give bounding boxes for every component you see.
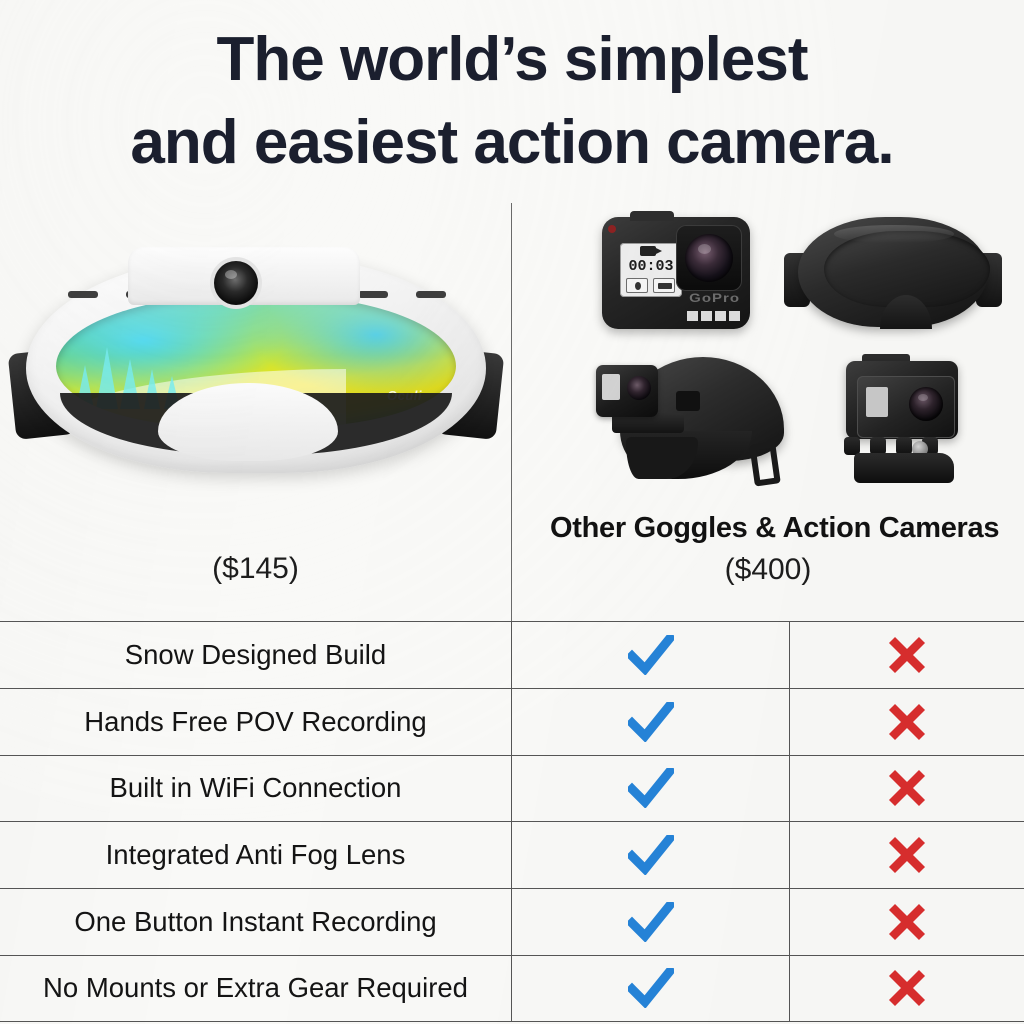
cross-icon — [887, 835, 927, 875]
comparison-page: The world’s simplest and easiest action … — [0, 0, 1024, 1024]
other-products-mark — [789, 956, 1024, 1021]
camera-lens-icon — [685, 234, 733, 282]
caged-action-camera-with-mount-icon — [842, 353, 968, 495]
other-products-mark — [789, 689, 1024, 755]
feature-label: No Mounts or Extra Gear Required — [0, 972, 511, 1004]
camera-top-nub — [630, 211, 674, 221]
camera-body — [857, 376, 955, 438]
our-product-mark — [511, 822, 789, 888]
cross-icon — [887, 635, 927, 675]
goggle-frame — [798, 217, 988, 327]
sd-card-icon — [653, 278, 675, 293]
camera-screen — [602, 374, 620, 400]
check-icon — [628, 768, 674, 808]
check-icon — [628, 635, 674, 675]
helmet-vent — [676, 391, 700, 411]
gopro-logo-squares — [687, 311, 740, 321]
right-product-price: ($400) — [512, 553, 1024, 587]
camera-lens-housing — [676, 225, 742, 291]
record-led-icon — [608, 225, 616, 233]
video-mode-icon — [640, 246, 656, 256]
helmet-strap-ring — [749, 441, 781, 486]
feature-label: One Button Instant Recording — [0, 906, 511, 938]
lcd-status-row — [624, 278, 678, 294]
table-row: Integrated Anti Fog Lens — [0, 821, 1024, 888]
battery-icon — [626, 278, 648, 293]
camera-cage-frame — [846, 361, 958, 439]
other-products-mark — [789, 889, 1024, 955]
camera-lcd-screen: 00:03 — [620, 243, 682, 297]
lcd-timer: 00:03 — [620, 258, 682, 275]
other-products-mark — [789, 756, 1024, 822]
table-row: Hands Free POV Recording — [0, 688, 1024, 755]
table-row: No Mounts or Extra Gear Required — [0, 955, 1024, 1022]
mounted-action-camera-icon — [596, 365, 658, 417]
other-products-mark — [789, 622, 1024, 688]
comparison-table: Snow Designed BuildHands Free POV Record… — [0, 621, 1024, 1022]
our-product-mark — [511, 889, 789, 955]
cross-icon — [887, 968, 927, 1008]
table-row: Snow Designed Build — [0, 621, 1024, 688]
feature-label: Built in WiFi Connection — [0, 772, 511, 804]
headline-line-2: and easiest action camera. — [0, 101, 1024, 184]
our-product-mark — [511, 689, 789, 755]
right-product-title: Other Goggles & Action Cameras — [512, 512, 1024, 545]
our-product-mark — [511, 956, 789, 1021]
table-row: Built in WiFi Connection — [0, 755, 1024, 822]
cross-icon — [887, 768, 927, 808]
cross-icon — [887, 902, 927, 942]
mount-base — [854, 453, 954, 483]
gopro-brand-label: GoPro — [689, 292, 740, 306]
our-product-mark — [511, 622, 789, 688]
check-icon — [628, 702, 674, 742]
check-icon — [628, 968, 674, 1008]
feature-label: Integrated Anti Fog Lens — [0, 839, 511, 871]
feature-label: Hands Free POV Recording — [0, 706, 511, 738]
gopro-action-camera-icon: 00:03 GoPro — [602, 217, 750, 329]
headline-line-1: The world’s simplest — [0, 18, 1024, 101]
cross-icon — [887, 702, 927, 742]
our-product-mark — [511, 756, 789, 822]
helmet-with-mounted-camera-icon — [592, 351, 792, 491]
other-products-mark — [789, 822, 1024, 888]
white-snow-goggles-with-camera-icon: Oculi — [8, 233, 504, 498]
left-product-price: ($145) — [0, 552, 511, 586]
check-icon — [628, 835, 674, 875]
black-ski-goggles-icon — [784, 213, 1002, 331]
camera-screen — [866, 387, 888, 417]
feature-label: Snow Designed Build — [0, 639, 511, 671]
goggle-sheen — [834, 225, 954, 243]
camera-lens-icon — [627, 376, 651, 400]
camera-lens-icon — [909, 387, 943, 421]
check-icon — [628, 902, 674, 942]
page-title: The world’s simplest and easiest action … — [0, 18, 1024, 184]
table-row: One Button Instant Recording — [0, 888, 1024, 955]
camera-lens-icon — [214, 261, 258, 305]
